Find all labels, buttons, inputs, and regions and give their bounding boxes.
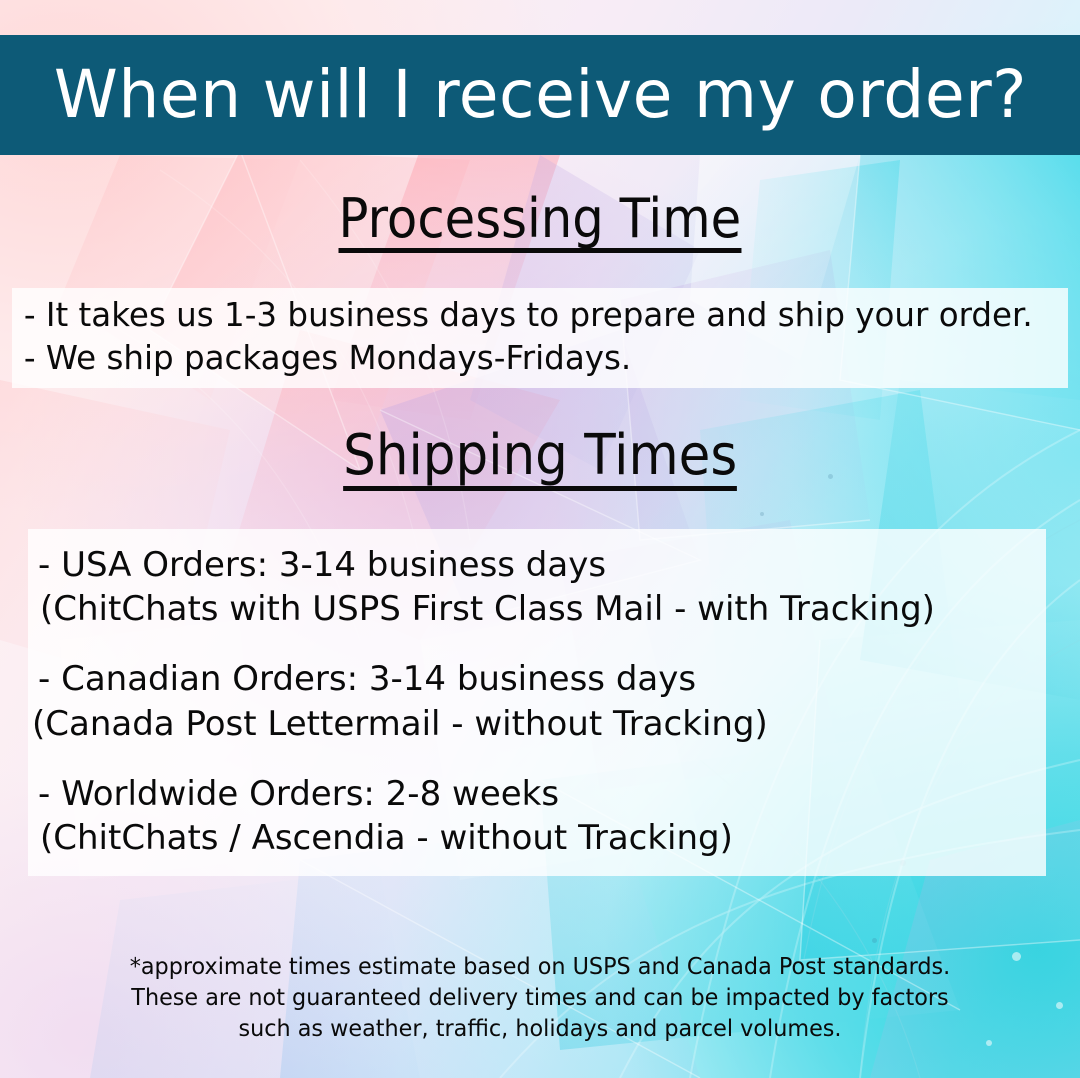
shipping-block-usa: - USA Orders: 3-14 business days (ChitCh… bbox=[28, 543, 1046, 631]
header-banner: When will I receive my order? bbox=[0, 35, 1080, 155]
shipping-worldwide-line-1: - Worldwide Orders: 2-8 weeks bbox=[28, 772, 1046, 816]
shipping-usa-line-1: - USA Orders: 3-14 business days bbox=[28, 543, 1046, 587]
shipping-block-canada: - Canadian Orders: 3-14 business days (C… bbox=[28, 657, 1046, 745]
bubble-speck bbox=[760, 512, 764, 516]
disclaimer-footnote: *approximate times estimate based on USP… bbox=[0, 952, 1080, 1044]
shipping-block-worldwide: - Worldwide Orders: 2-8 weeks (ChitChats… bbox=[28, 772, 1046, 860]
footnote-line-1: *approximate times estimate based on USP… bbox=[16, 952, 1064, 983]
processing-line-1: - It takes us 1-3 business days to prepa… bbox=[12, 294, 1052, 337]
shipping-usa-line-2: (ChitChats with USPS First Class Mail - … bbox=[28, 587, 1046, 631]
shipping-worldwide-line-2: (ChitChats / Ascendia - without Tracking… bbox=[28, 816, 1046, 860]
section-heading-shipping: Shipping Times bbox=[0, 428, 1080, 491]
footnote-line-3: such as weather, traffic, holidays and p… bbox=[16, 1014, 1064, 1045]
page-title: When will I receive my order? bbox=[53, 62, 1026, 128]
processing-line-2: - We ship packages Mondays-Fridays. bbox=[12, 337, 1052, 380]
shipping-canada-line-2: (Canada Post Lettermail - without Tracki… bbox=[28, 702, 1046, 746]
processing-time-panel: - It takes us 1-3 business days to prepa… bbox=[12, 288, 1068, 388]
bubble-speck bbox=[872, 938, 877, 943]
section-heading-processing-label: Processing Time bbox=[339, 192, 742, 253]
shipping-times-panel: - USA Orders: 3-14 business days (ChitCh… bbox=[28, 529, 1046, 876]
section-heading-shipping-label: Shipping Times bbox=[343, 428, 737, 491]
footnote-line-2: These are not guaranteed delivery times … bbox=[16, 983, 1064, 1014]
shipping-canada-line-1: - Canadian Orders: 3-14 business days bbox=[28, 657, 1046, 701]
section-heading-processing: Processing Time bbox=[0, 192, 1080, 253]
shipping-info-graphic: When will I receive my order? Processing… bbox=[0, 0, 1080, 1078]
